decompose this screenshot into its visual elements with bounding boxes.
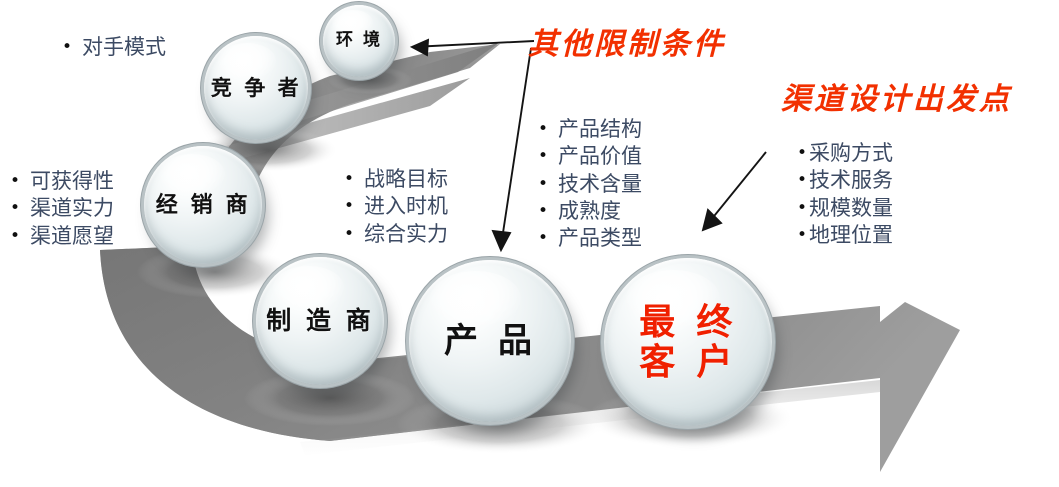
list-item-label: 成熟度 [558,198,621,225]
bullet-dot-icon: • [538,176,548,193]
bullet-dot-icon: • [797,227,807,244]
list-item: • 产品类型 [538,225,642,252]
list-item-label: 规模数量 [809,195,893,222]
bullet-dot-icon: • [797,172,807,189]
arrow-to-product-line [501,48,531,246]
list-item-label: 渠道实力 [30,195,114,222]
sphere-distributor-label: 经 销 商 [156,193,251,218]
diagram-canvas: 环 境 竞 争 者 经 销 商 制 造 商 产 品 最 终 客 户 • 对手模式… [0,0,1059,487]
list-item-label: 综合实力 [364,221,448,248]
list-item-label: 技术含量 [558,171,642,198]
sphere-product[interactable]: 产 品 [409,260,571,422]
list-item: • 渠道愿望 [10,223,114,250]
heading-other-constraints: 其他限制条件 [528,19,726,63]
list-item-label: 产品价值 [558,143,642,170]
bullet-dot-icon: • [344,226,354,243]
list-item: • 技术含量 [538,171,642,198]
list-item: • 产品结构 [538,116,642,143]
bullet-dot-icon: • [797,200,807,217]
list-item: • 地理位置 [797,222,893,249]
bullets-manufacturer-attributes: • 战略目标 • 进入时机 • 综合实力 [344,166,448,248]
sphere-final-customer[interactable]: 最 终 客 户 [604,258,772,426]
bullet-dot-icon: • [10,228,20,245]
bullet-dot-icon: • [538,203,548,220]
list-item-label: 技术服务 [809,167,893,194]
bullet-dot-icon: • [344,171,354,188]
bullet-dot-icon: • [10,173,20,190]
list-item-label: 产品类型 [558,225,642,252]
list-item: • 战略目标 [344,166,448,193]
list-item: • 技术服务 [797,167,893,194]
bullet-dot-icon: • [538,121,548,138]
list-item-label: 对手模式 [82,34,166,61]
arrow-to-customer-line [706,152,766,226]
arrow-to-customer-head [703,210,721,230]
list-item-label: 地理位置 [809,222,893,249]
bullet-dot-icon: • [538,148,548,165]
sphere-manufacturer-label: 制 造 商 [266,307,373,335]
arrow-to-product-head [493,231,510,250]
list-item: • 成熟度 [538,198,642,225]
sphere-environment[interactable]: 环 境 [323,5,395,77]
sphere-distributor[interactable]: 经 销 商 [144,146,262,264]
list-item: • 综合实力 [344,221,448,248]
bullets-product-attributes: • 产品结构 • 产品价值 • 技术含量 • 成熟度 • 产品类型 [538,116,642,252]
sphere-product-label: 产 品 [444,322,536,360]
sphere-manufacturer[interactable]: 制 造 商 [256,257,384,385]
bullet-dot-icon: • [538,230,548,247]
bullet-dot-icon: • [797,145,807,162]
list-item-label: 战略目标 [364,166,448,193]
list-item: • 采购方式 [797,140,893,167]
arrow-to-band-tail-head [412,40,428,55]
list-item: • 对手模式 [62,34,166,61]
bullets-distributor-attributes: • 可获得性 • 渠道实力 • 渠道愿望 [10,168,114,250]
list-item: • 渠道实力 [10,195,114,222]
list-item: • 产品价值 [538,143,642,170]
arrow-to-band-tail-line [412,41,534,47]
bullet-dot-icon: • [62,39,72,56]
list-item-label: 采购方式 [809,140,893,167]
list-item-label: 产品结构 [558,116,642,143]
bullet-dot-icon: • [344,198,354,215]
sphere-competitor[interactable]: 竞 争 者 [204,36,308,140]
list-item: • 规模数量 [797,195,893,222]
list-item: • 进入时机 [344,193,448,220]
sphere-competitor-label: 竞 争 者 [211,76,301,100]
list-item-label: 渠道愿望 [30,223,114,250]
sphere-final-customer-label: 最 终 客 户 [639,302,737,383]
bullet-dot-icon: • [10,200,20,217]
list-item: • 可获得性 [10,168,114,195]
sphere-environment-label: 环 境 [336,31,382,50]
bullets-competitor-attributes: • 对手模式 [62,34,166,61]
list-item-label: 可获得性 [30,168,114,195]
bullets-customer-attributes: • 采购方式 • 技术服务 • 规模数量 • 地理位置 [797,140,893,249]
list-item-label: 进入时机 [364,193,448,220]
heading-channel-design-origin: 渠道设计出发点 [781,74,1012,118]
